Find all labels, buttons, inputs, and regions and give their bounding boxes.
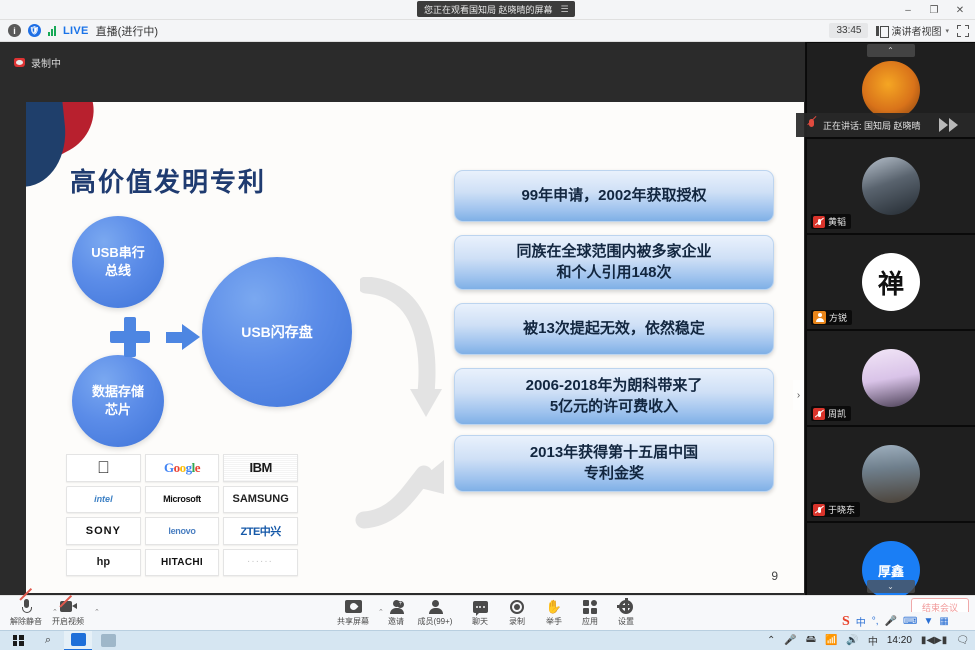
invite-button[interactable]: + 邀请 [374,598,418,627]
ime-keyboard-icon[interactable]: ⌨ [903,616,917,627]
speaker-view-icon [876,26,887,36]
logo-hitachi: HITACHI [145,549,220,577]
participant-strip: ⌃ 正在讲话: 国知局 赵晓晴 黄韬 禅 方锐 [805,42,975,595]
logo-samsung: SAMSUNG [223,486,298,514]
sogou-icon[interactable]: S [842,614,850,630]
settings-gear-icon [619,598,633,615]
mic-muted-icon [22,598,31,615]
mic-icon[interactable]: 🎤 [784,635,796,646]
doll-avatar [862,61,920,119]
slide-next-button[interactable]: › [793,380,804,410]
info-box-2-line2: 和个人引用148次 [556,264,671,281]
logo-google: Google [145,454,220,482]
participant-name: 方锐 [829,311,847,324]
ime-icon[interactable]: 中 [868,633,878,648]
participant-name: 于晓东 [828,503,855,516]
list-icon[interactable]: ☰ [561,4,568,15]
restore-button[interactable]: ❐ [921,0,947,20]
ime-bar: S 中 °, 🎤 ⌨ ▼ ▦ [838,612,973,631]
windows-taskbar: ⌕ ⌃ 🎤 🖴 📶 🔊 中 14:20 ▮◀▶▮ 🗨 [0,630,975,650]
chat-label: 聊天 [472,616,488,627]
meeting-timer: 33:45 [829,23,868,38]
circle-usb-bus-line1: USB串行 [91,244,144,262]
logo-lenovo: lenovo [145,517,220,545]
participant-tile-3[interactable]: 禅 方锐 [806,234,975,330]
window-controls: – ❐ ✕ [895,0,973,20]
speaking-mic-icon [806,119,817,131]
logo-microsoft: Microsoft [145,486,220,514]
info-box-4-line2: 5亿元的许可费收入 [550,398,678,415]
logo-placeholder: ······ [223,549,298,577]
recording-icon [14,58,25,67]
speaking-banner-text: 正在讲话: 国知局 赵晓晴 [823,119,921,132]
info-box-4: 2006-2018年为朗科带来了 5亿元的许可费收入 [454,368,774,425]
participants-label: 成员(99+) [418,616,453,627]
taskbar-app-photo[interactable] [94,631,122,650]
share-screen-icon [345,598,362,615]
watching-screen-tooltip: 您正在观看国知局 赵晓晴的屏幕 ☰ [417,1,575,17]
circle-storage-chip-line1: 数据存储 [92,383,144,401]
participant-name-badge: 黄韬 [811,214,851,229]
media-icon[interactable]: ▮◀▶▮ [921,635,947,646]
chevron-down-icon: ▾ [945,27,949,35]
participants-icon [428,598,442,615]
participant-name-badge: 于晓东 [811,502,860,517]
speaking-banner: 正在讲话: 国知局 赵晓晴 [796,113,975,137]
usb-icon[interactable]: 🖴 [806,632,816,649]
apps-icon [583,598,597,615]
windows-start-icon[interactable] [4,631,32,650]
view-mode-selector[interactable]: 演讲者视图 ▾ [876,23,949,38]
info-box-3-line1: 被13次提起无效，依然稳定 [523,320,705,337]
volume-icon[interactable]: 🔊 [846,635,858,646]
info-box-1: 99年申请，2002年获取授权 [454,170,774,222]
close-button[interactable]: ✕ [947,0,973,20]
slide-title: 高价值发明专利 [70,162,266,199]
participant-name: 周凯 [828,407,846,420]
info-box-5-line1: 2013年获得第十五届中国 [530,444,698,461]
participant-name-badge: 周凯 [811,406,851,421]
view-mode-label: 演讲者视图 [891,23,941,38]
logo-hp-text: hp [97,556,110,568]
shield-icon[interactable]: 🛡 [28,24,41,37]
ime-mode[interactable]: 中 [856,614,866,629]
settings-button[interactable]: 设置 [604,598,648,627]
plus-icon [110,317,150,357]
invite-label: 邀请 [388,616,404,627]
apps-label: 应用 [582,616,598,627]
circle-product-label: USB闪存盘 [241,323,313,342]
invite-person-icon: + [389,598,403,615]
photo-avatar [862,157,920,215]
presentation-slide: 高价值发明专利 案例：朗科99专利 USB串行 总线 数据存储 芯片 USB闪存… [26,102,804,593]
logo-ibm: IBM [223,454,298,482]
wifi-icon[interactable]: 📶 [825,635,837,646]
ime-mic-icon[interactable]: 🎤 [885,616,897,627]
taskbar-tray: ⌃ 🎤 🖴 📶 🔊 中 14:20 ▮◀▶▮ 🗨 [767,632,975,649]
status-right-group: 33:45 演讲者视图 ▾ [829,23,975,38]
participants-button[interactable]: 成员(99+) [413,598,457,627]
raise-hand-icon: ✋ [546,598,562,615]
logo-hp: hp [66,549,141,577]
circle-usb-bus-line2: 总线 [105,262,131,280]
circle-usb-flash-drive: USB闪存盘 [202,257,352,407]
info-box-3: 被13次提起无效，依然稳定 [454,303,774,355]
chat-icon [473,598,488,615]
zen-avatar: 禅 [862,253,920,311]
participant-tile-2[interactable]: 黄韬 [806,138,975,234]
info-box-2-line1: 同族在全球范围内被多家企业 [516,243,711,260]
mic-muted-icon [813,216,825,228]
chevron-up-icon[interactable]: ⌃ [767,635,775,646]
camera-off-icon [60,598,77,615]
taskbar-left-group: ⌕ [0,631,122,650]
participant-tile-5[interactable]: 于晓东 [806,426,975,522]
minimize-button[interactable]: – [895,0,921,20]
raise-hand-label: 举手 [546,616,562,627]
status-left-group: i 🛡 LIVE 直播(进行中) [0,23,158,39]
unmute-button[interactable]: 解除静音 [4,598,48,627]
start-video-button[interactable]: 开启视频 [46,598,90,627]
mic-muted-icon [813,408,825,420]
info-box-4-line1: 2006-2018年为朗科带来了 [526,377,703,394]
participant-name: 黄韬 [828,215,846,228]
settings-label: 设置 [618,616,634,627]
recording-indicator: 录制中 [0,42,805,82]
mic-muted-icon [813,504,825,516]
meeting-window: 您正在观看国知局 赵晓晴的屏幕 ☰ – ❐ ✕ i 🛡 LIVE 直播(进行中)… [0,0,975,650]
circle-storage-chip-line2: 芯片 [105,401,131,419]
taskbar-clock[interactable]: 14:20 [887,635,912,646]
company-logo-grid:  Google IBM intel Microsoft SAMSUNG SON… [66,454,298,576]
slide-page-number: 9 [771,569,778,583]
info-box-1-line1: 99年申请，2002年获取授权 [521,187,706,204]
participant-tile-4[interactable]: 周凯 [806,330,975,426]
logo-apple:  [66,454,141,482]
notification-icon[interactable]: 🗨 [956,635,969,646]
curved-arrow-bottom-icon [352,402,462,532]
search-icon[interactable]: ⌕ [34,631,62,650]
fullscreen-icon[interactable] [957,25,969,37]
start-video-label: 开启视频 [52,616,84,627]
live-status-text: 直播(进行中) [96,23,158,39]
logo-samsung-text: SAMSUNG [233,493,289,505]
shared-screen-stage: 录制中 高价值发明专利 案例：朗科99专利 USB串行 总线 数据存储 芯片 U… [0,42,805,595]
ime-apps-icon[interactable]: ▦ [939,616,948,627]
live-badge: LIVE [63,25,89,37]
record-icon [510,598,524,615]
taskbar-app-meeting[interactable] [64,631,92,650]
logo-zte: ZTE中兴 [223,517,298,545]
signal-icon[interactable] [48,26,56,36]
participant-name-badge: 方锐 [811,310,852,325]
window-titlebar: 您正在观看国知局 赵晓晴的屏幕 ☰ – ❐ ✕ [0,0,975,20]
meeting-toolbar: 解除静音 ⌃ 开启视频 ⌃ 共享屏幕 ⌃ + 邀请 成员(99+) 聊天 [0,595,975,630]
recording-label: 录制中 [31,55,61,70]
logo-intel: intel [66,486,141,514]
circle-usb-bus: USB串行 总线 [72,216,164,308]
ime-tools-icon[interactable]: ▼ [923,616,933,627]
info-box-2: 同族在全球范围内被多家企业 和个人引用148次 [454,235,774,290]
scroll-up-button[interactable]: ⌃ [867,44,915,57]
ime-punctuation[interactable]: °, [872,616,879,627]
logo-sony: SONY [66,517,141,545]
arrow-right-icon [166,324,200,350]
info-box-5: 2013年获得第十五届中国 专利金奖 [454,435,774,492]
video-options-caret[interactable]: ⌃ [94,608,100,616]
audio-wave-icon [939,118,958,132]
info-icon[interactable]: i [8,24,21,37]
watching-screen-text: 您正在观看国知局 赵晓晴的屏幕 [424,3,553,16]
anime-avatar [862,349,920,407]
share-screen-button[interactable]: 共享屏幕 [331,598,375,627]
circle-storage-chip: 数据存储 芯片 [72,355,164,447]
record-label: 录制 [509,616,525,627]
unmute-label: 解除静音 [10,616,42,627]
scroll-down-button[interactable]: ⌄ [867,580,915,593]
info-box-5-line2: 专利金奖 [584,465,644,482]
meeting-status-bar: i 🛡 LIVE 直播(进行中) 33:45 演讲者视图 ▾ [0,20,975,42]
landscape-avatar [862,445,920,503]
share-screen-label: 共享屏幕 [337,616,369,627]
user-icon [813,311,826,324]
